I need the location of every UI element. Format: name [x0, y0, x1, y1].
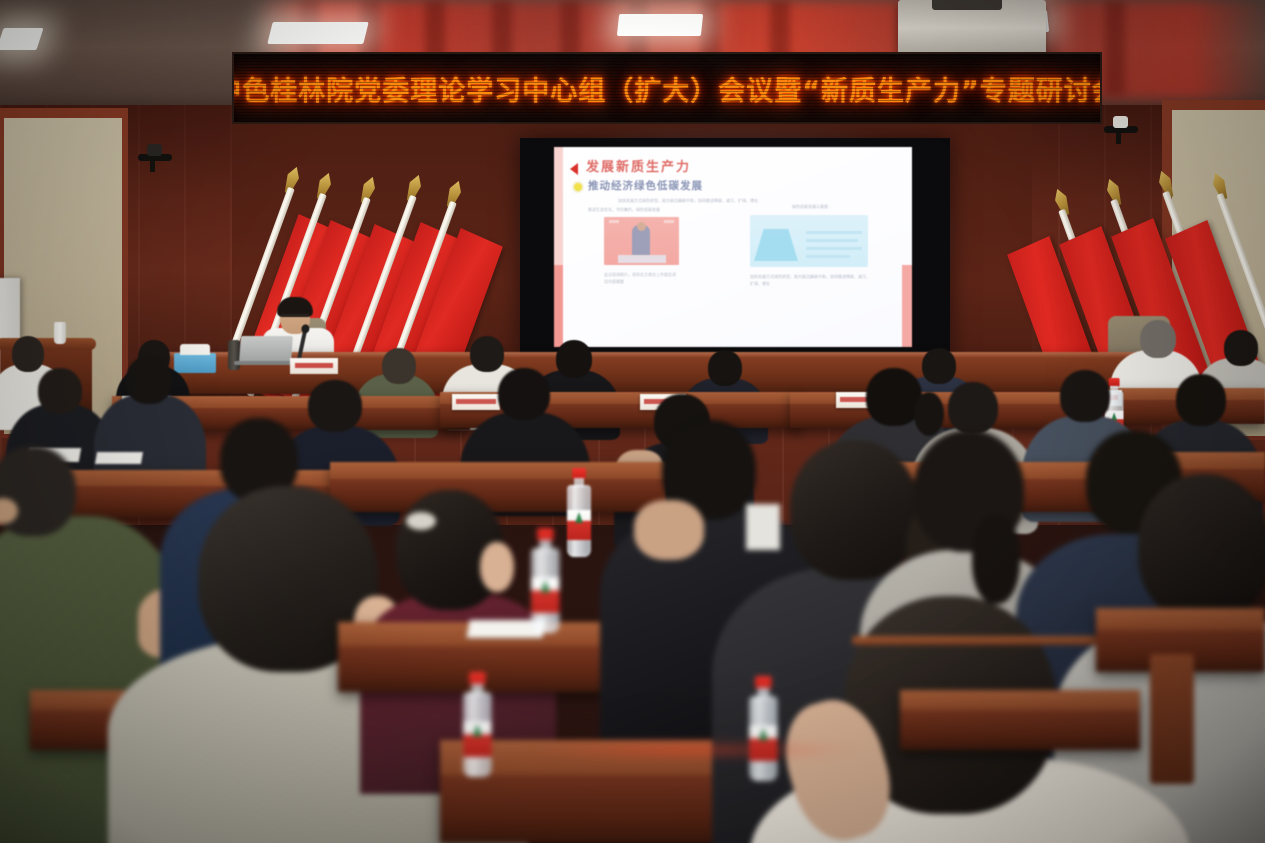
- slide-side-band: [554, 265, 563, 347]
- paper-sheet: [95, 452, 143, 464]
- desk-rail: [852, 636, 1122, 645]
- slide-body-line-1: 加快发展方式绿色转型，助力碳达峰碳中和，协同推进降碳、减污、扩绿、增长: [618, 197, 900, 204]
- desk-red-reflection: [530, 742, 860, 758]
- ceiling-light-panel: [0, 28, 44, 50]
- desk-name-card: [452, 394, 500, 410]
- projection-screen: 发展新质生产力 推动经济绿色低碳发展 加快发展方式绿色转型，助力碳达峰碳中和，协…: [520, 138, 950, 360]
- slide-diagram-caption: 绿色低碳发展示意图: [764, 203, 856, 210]
- slide-subtitle: 推动经济绿色低碳发展: [588, 178, 703, 193]
- thermos-flask: [228, 340, 240, 370]
- laptop: [239, 336, 293, 362]
- led-banner: 中色桂林院党委理论学习中心组（扩大）会议暨“新质生产力”专题研讨会: [232, 52, 1102, 124]
- slide-title: 发展新质生产力: [586, 156, 691, 175]
- slide-body-right: 加快发展方式绿色转型，助力碳达峰碳中和，协同推进降碳、减污、扩绿、增长: [750, 273, 870, 287]
- ceiling-light-panel: [267, 22, 368, 44]
- ceiling-light-panel: [617, 14, 703, 36]
- slide-photo-caption: 会议现场照片，领导在主席台上作报告讲话内容摘要: [604, 271, 678, 285]
- ceiling-stripe: [1105, 0, 1125, 95]
- presentation-slide: 发展新质生产力 推动经济绿色低碳发展 加快发展方式绿色转型，助力碳达峰碳中和，协…: [554, 147, 912, 347]
- wall-camera-right-icon: [1104, 120, 1138, 136]
- audience-desk: [330, 462, 666, 512]
- slide-side-band: [902, 265, 912, 347]
- slide-body-line-2: 推进生态优先、节约集约、绿色低碳发展: [588, 206, 768, 213]
- tissue-box: [174, 353, 216, 373]
- bullet-dot-icon: [574, 183, 582, 191]
- slide-photo: [604, 217, 679, 265]
- head-table-name-card: [290, 358, 338, 374]
- chevron-left-icon: [570, 163, 578, 175]
- audience-desk: [900, 690, 1140, 750]
- slide-diagram: [750, 215, 868, 267]
- paper-cup: [54, 322, 66, 344]
- chair-frame: [1150, 654, 1194, 784]
- wall-camera-left-icon: [138, 148, 172, 164]
- led-banner-text: 中色桂林院党委理论学习中心组（扩大）会议暨“新质生产力”专题研讨会: [232, 69, 1102, 108]
- conference-room-photo: 中色桂林院党委理论学习中心组（扩大）会议暨“新质生产力”专题研讨会 发展新质生产…: [0, 0, 1265, 843]
